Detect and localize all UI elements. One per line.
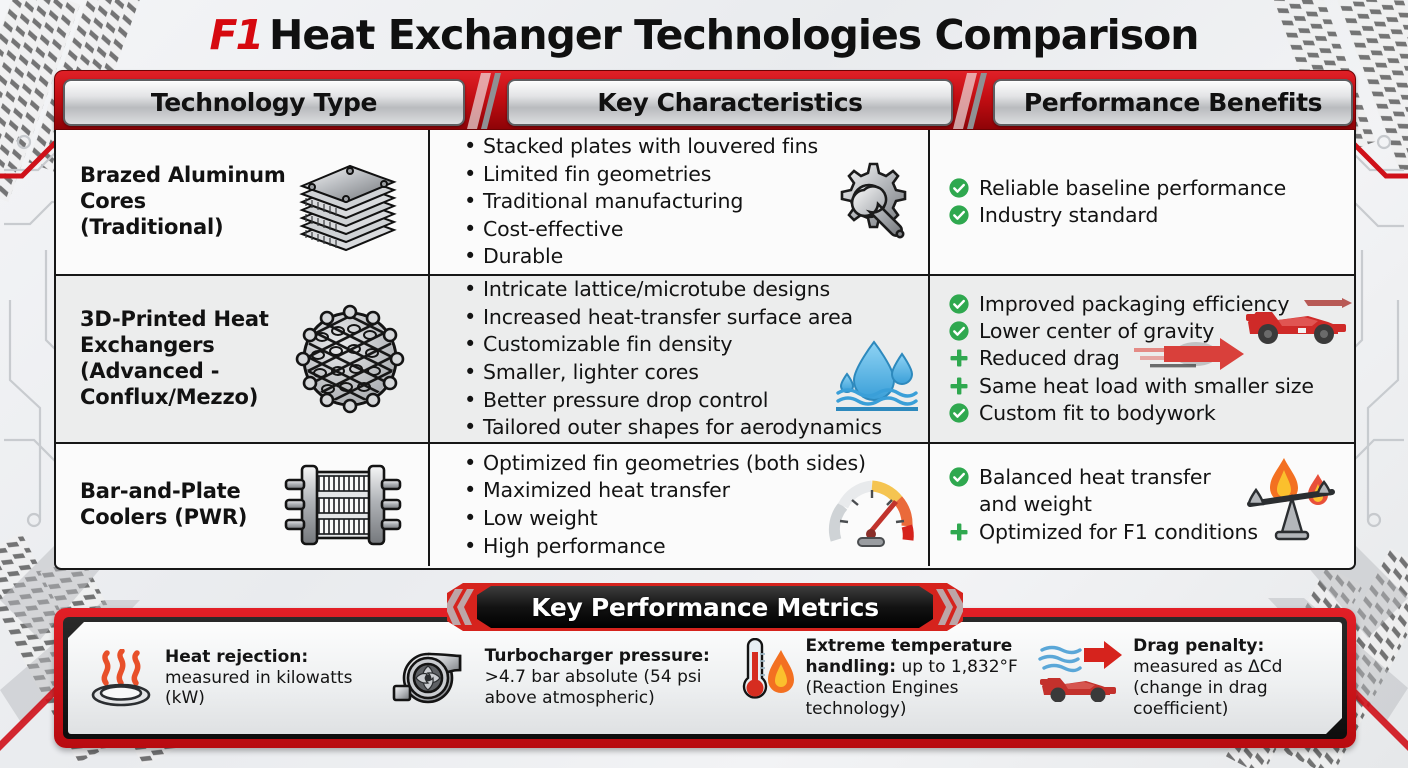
list-item: Customizable fin density [464, 331, 882, 359]
check-icon [948, 320, 970, 342]
comparison-table: Technology Type Key Characteristics Perf… [54, 70, 1356, 570]
header-divider-2 [953, 73, 987, 129]
check-icon [948, 204, 970, 226]
metric-text: Extreme temperature handling: up to 1,83… [805, 636, 1038, 720]
turbocharger-icon [392, 648, 476, 710]
list-item: Durable [464, 243, 818, 271]
technology-name: Brazed Aluminum Cores (Traditional) [56, 163, 295, 240]
check-icon [948, 402, 970, 424]
title-text: Heat Exchanger Technologies Comparison [269, 11, 1198, 59]
speed-arrow-icon [1134, 336, 1254, 374]
list-item: Better pressure drop control [464, 387, 882, 415]
benefits-list: Reliable baseline performance Industry s… [930, 175, 1286, 230]
benefit-text: Same heat load with smaller size [979, 374, 1314, 398]
metric-value: measured as ΔCd (change in drag coeffici… [1133, 657, 1282, 719]
metric-value: >4.7 bar absolute (54 psi above atmosphe… [485, 667, 702, 708]
plus-icon [948, 375, 970, 397]
metric-text: Turbocharger pressure: >4.7 bar absolute… [485, 646, 735, 709]
list-item: Stacked plates with louvered fins [464, 133, 818, 161]
cell-characteristics: Intricate lattice/microtube designs Incr… [430, 276, 930, 442]
list-item: Custom fit to bodywork [948, 400, 1314, 427]
header-label: Performance Benefits [1024, 88, 1322, 117]
benefit-text: Optimized for F1 conditions [979, 520, 1258, 544]
list-item: Optimized for F1 conditions [948, 519, 1258, 546]
characteristics-list: Optimized fin geometries (both sides) Ma… [430, 450, 866, 560]
metric-text: Drag penalty: measured as ΔCd (change in… [1133, 636, 1332, 720]
list-item: Industry standard [948, 202, 1286, 229]
table-row: Bar-and-Plate Coolers (PWR) [56, 444, 1354, 566]
banner-label: Key Performance Metrics [447, 583, 963, 631]
header-divider-1 [467, 73, 501, 129]
header-label: Technology Type [151, 88, 377, 117]
bar-plate-cooler-icon [280, 458, 406, 552]
hot-springs-icon [86, 649, 156, 709]
table-header-bar: Technology Type Key Characteristics Perf… [54, 70, 1356, 130]
list-item: Maximized heat transfer [464, 477, 866, 505]
lattice-sphere-icon [294, 303, 406, 415]
technology-name: Bar-and-Plate Coolers (PWR) [56, 479, 295, 531]
gauge-icon [826, 474, 918, 552]
header-performance-benefits: Performance Benefits [993, 79, 1353, 126]
water-droplet-icon [834, 338, 920, 414]
title-f1-prefix: F1 [210, 11, 263, 59]
list-item: Traditional manufacturing [464, 188, 818, 216]
thermometer-flame-icon [734, 638, 796, 704]
cell-benefits: Reliable baseline performance Industry s… [930, 130, 1354, 274]
stacked-plates-icon [288, 150, 406, 254]
plus-icon [948, 521, 970, 543]
list-item: Limited fin geometries [464, 161, 818, 189]
metric-label: Heat rejection: [165, 647, 308, 667]
metric-extreme-temperature: Extreme temperature handling: up to 1,83… [734, 636, 1038, 720]
list-item: High performance [464, 533, 866, 561]
list-item: Intricate lattice/microtube designs [464, 276, 882, 304]
metric-heat-rejection: Heat rejection: measured in kilowatts (k… [78, 647, 392, 710]
metrics-banner: Key Performance Metrics [447, 583, 963, 631]
table-row: Brazed Aluminum Cores (Traditional) [56, 130, 1354, 276]
cell-technology: 3D-Printed Heat Exchangers (Advanced - C… [56, 276, 430, 442]
check-icon [948, 177, 970, 199]
cell-technology: Bar-and-Plate Coolers (PWR) [56, 444, 430, 566]
technology-name: 3D-Printed Heat Exchangers (Advanced - C… [56, 307, 295, 410]
benefits-list: Balanced heat transfer and weight Optimi… [930, 464, 1258, 546]
characteristics-list: Stacked plates with louvered fins Limite… [430, 133, 818, 271]
metric-drag-penalty: Drag penalty: measured as ΔCd (change in… [1038, 636, 1332, 720]
list-item: Tailored outer shapes for aerodynamics [464, 414, 882, 442]
infographic-canvas: F1Heat Exchanger Technologies Comparison… [0, 0, 1408, 768]
page-title: F1Heat Exchanger Technologies Comparison [0, 6, 1408, 64]
plus-icon [948, 347, 970, 369]
table-row: 3D-Printed Heat Exchangers (Advanced - C… [56, 276, 1354, 444]
characteristics-list: Intricate lattice/microtube designs Incr… [430, 276, 882, 441]
list-item: Reliable baseline performance [948, 175, 1286, 202]
f1-car-icon [1242, 296, 1352, 348]
metrics-content: Heat rejection: measured in kilowatts (k… [68, 622, 1342, 734]
list-item: Cost-effective [464, 216, 818, 244]
header-technology-type: Technology Type [63, 79, 465, 126]
metric-label: Turbocharger pressure: [485, 646, 710, 666]
cell-characteristics: Optimized fin geometries (both sides) Ma… [430, 444, 930, 566]
list-item: Same heat load with smaller size [948, 373, 1314, 400]
metric-label: Drag penalty: [1133, 636, 1264, 656]
check-icon [948, 293, 970, 315]
header-key-characteristics: Key Characteristics [507, 79, 953, 126]
f1-car-airflow-icon [1038, 638, 1124, 702]
cell-characteristics: Stacked plates with louvered fins Limite… [430, 130, 930, 274]
header-label: Key Characteristics [597, 88, 862, 117]
cell-benefits: Improved packaging efficiency Lower cent… [930, 276, 1354, 442]
list-item: Reduced drag [948, 345, 1314, 372]
list-item: Increased heat-transfer surface area [464, 304, 882, 332]
metrics-panel-inner: Heat rejection: measured in kilowatts (k… [63, 617, 1347, 739]
list-item: Balanced heat transfer and weight [948, 464, 1229, 519]
gear-wrench-icon [824, 156, 916, 248]
list-item: Optimized fin geometries (both sides) [464, 450, 866, 478]
metric-turbocharger-pressure: Turbocharger pressure: >4.7 bar absolute… [392, 646, 735, 710]
balance-scale-flame-icon [1236, 454, 1342, 554]
metric-value: measured in kilowatts (kW) [165, 668, 352, 709]
cell-technology: Brazed Aluminum Cores (Traditional) [56, 130, 430, 274]
cell-benefits: Balanced heat transfer and weight Optimi… [930, 444, 1354, 566]
benefit-text: Balanced heat transfer and weight [979, 465, 1211, 516]
list-item: Smaller, lighter cores [464, 359, 882, 387]
benefit-text: Reliable baseline performance [979, 176, 1286, 200]
table-body: Brazed Aluminum Cores (Traditional) [54, 130, 1356, 570]
list-item: Low weight [464, 505, 866, 533]
benefit-text: Reduced drag [979, 346, 1120, 370]
metric-text: Heat rejection: measured in kilowatts (k… [165, 647, 392, 710]
benefit-text: Industry standard [979, 203, 1158, 227]
benefit-text: Custom fit to bodywork [979, 401, 1216, 425]
check-icon [948, 466, 970, 488]
